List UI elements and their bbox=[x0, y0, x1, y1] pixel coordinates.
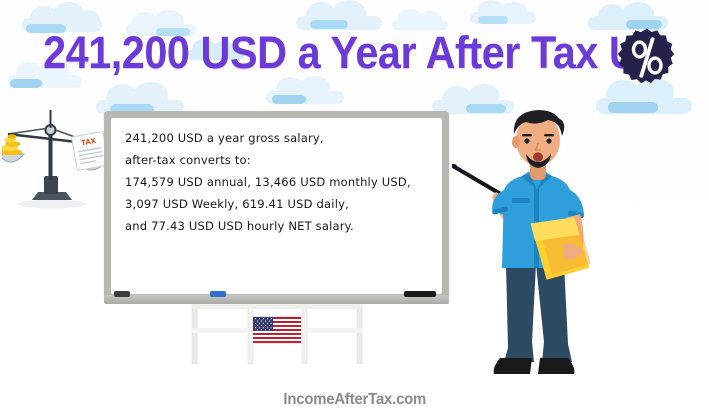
eraser-icon bbox=[114, 291, 130, 297]
character-left-shoe bbox=[494, 358, 532, 374]
whiteboard-line-2: after-tax converts to: bbox=[125, 152, 428, 169]
page-title: 241,200 USD a Year After Tax US bbox=[43, 30, 665, 76]
cloud-icon bbox=[470, 0, 536, 24]
character-right-leg bbox=[536, 264, 572, 362]
character-mouth bbox=[533, 152, 543, 161]
marker-tray bbox=[104, 295, 449, 304]
blue-marker-icon bbox=[210, 291, 226, 297]
whiteboard-surface: 241,200 USD a year gross salary, after-t… bbox=[111, 118, 442, 294]
easel-crossbar-top bbox=[192, 304, 362, 309]
whiteboard: 241,200 USD a year gross salary, after-t… bbox=[104, 111, 449, 301]
balance-scale-illustration: TAX bbox=[2, 104, 110, 212]
us-flag-icon bbox=[252, 316, 302, 344]
black-marker-icon bbox=[404, 291, 436, 297]
character-right-shoe bbox=[538, 358, 574, 374]
character-eye-right bbox=[546, 138, 551, 143]
poster-canvas: 241,200 USD a Year After Tax US bbox=[0, 0, 709, 419]
whiteboard-line-5: and 77.43 USD USD hourly NET salary. bbox=[125, 218, 428, 235]
percent-badge bbox=[616, 27, 678, 89]
scale-shadow bbox=[18, 200, 86, 209]
whiteboard-line-3: 174,579 USD annual, 13,466 USD monthly U… bbox=[125, 174, 428, 191]
pointer-stick-icon bbox=[452, 164, 504, 196]
character-eyebrow-left bbox=[522, 134, 532, 136]
presenter-character bbox=[452, 96, 628, 386]
character-ear bbox=[512, 136, 520, 148]
whiteboard-line-4: 3,097 USD Weekly, 619.41 USD daily, bbox=[125, 196, 428, 213]
page-title-row: 241,200 USD a Year After Tax US bbox=[0, 22, 709, 84]
character-left-leg bbox=[504, 264, 536, 362]
character-eyebrow-right bbox=[544, 134, 554, 136]
character-eye-left bbox=[524, 138, 529, 143]
footer: IncomeAfterTax.com bbox=[0, 391, 709, 409]
gold-coins-icon bbox=[2, 134, 22, 155]
scale-pan-left bbox=[2, 154, 24, 162]
character-shirt-pocket bbox=[512, 198, 530, 203]
whiteboard-line-1: 241,200 USD a year gross salary, bbox=[125, 130, 428, 147]
site-name: IncomeAfterTax.com bbox=[283, 391, 426, 409]
whiteboard-text-block: 241,200 USD a year gross salary, after-t… bbox=[125, 130, 428, 235]
